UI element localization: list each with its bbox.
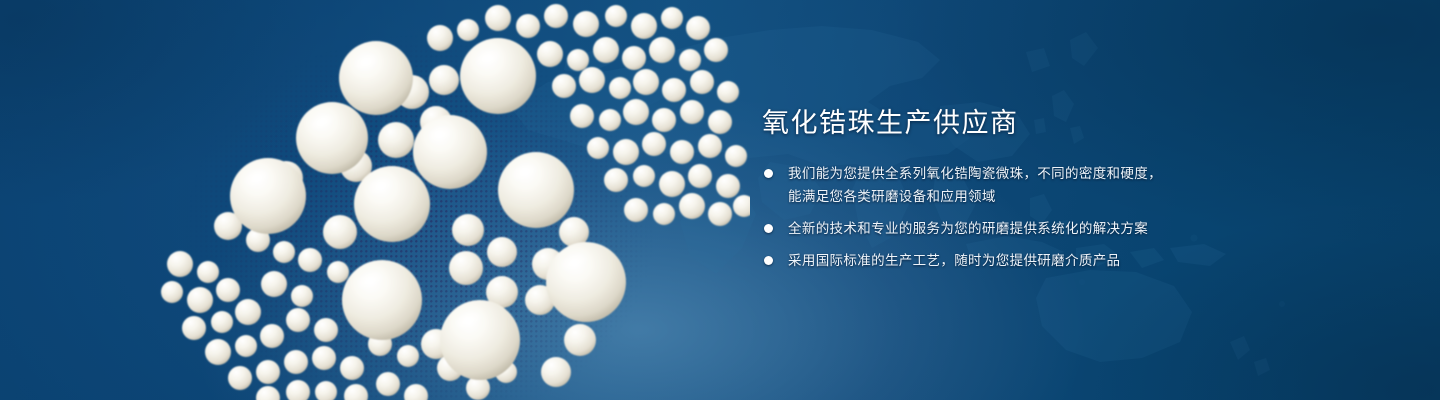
- bullet-dot-icon: [764, 256, 773, 265]
- banner-content: 氧化锆珠生产供应商 我们能为您提供全系列氧化锆陶瓷微珠，不同的密度和硬度， 能满…: [762, 106, 1282, 281]
- bullet-line-1: 我们能为您提供全系列氧化锆陶瓷微珠，不同的密度和硬度，: [788, 162, 1282, 185]
- bullet-line-1: 全新的技术和专业的服务为您的研磨提供系统化的解决方案: [788, 217, 1282, 240]
- promo-banner: 氧化锆珠生产供应商 我们能为您提供全系列氧化锆陶瓷微珠，不同的密度和硬度， 能满…: [0, 0, 1440, 400]
- bullet-item: 采用国际标准的生产工艺，随时为您提供研磨介质产品: [762, 249, 1282, 272]
- bullet-line-2: 能满足您各类研磨设备和应用领域: [788, 185, 1282, 208]
- bullet-dot-icon: [764, 224, 773, 233]
- bullet-line-1: 采用国际标准的生产工艺，随时为您提供研磨介质产品: [788, 249, 1282, 272]
- bullet-dot-icon: [764, 169, 773, 178]
- bullet-item: 我们能为您提供全系列氧化锆陶瓷微珠，不同的密度和硬度， 能满足您各类研磨设备和应…: [762, 162, 1282, 208]
- banner-bullet-list: 我们能为您提供全系列氧化锆陶瓷微珠，不同的密度和硬度， 能满足您各类研磨设备和应…: [762, 162, 1282, 272]
- banner-headline: 氧化锆珠生产供应商: [762, 106, 1282, 140]
- bullet-item: 全新的技术和专业的服务为您的研磨提供系统化的解决方案: [762, 217, 1282, 240]
